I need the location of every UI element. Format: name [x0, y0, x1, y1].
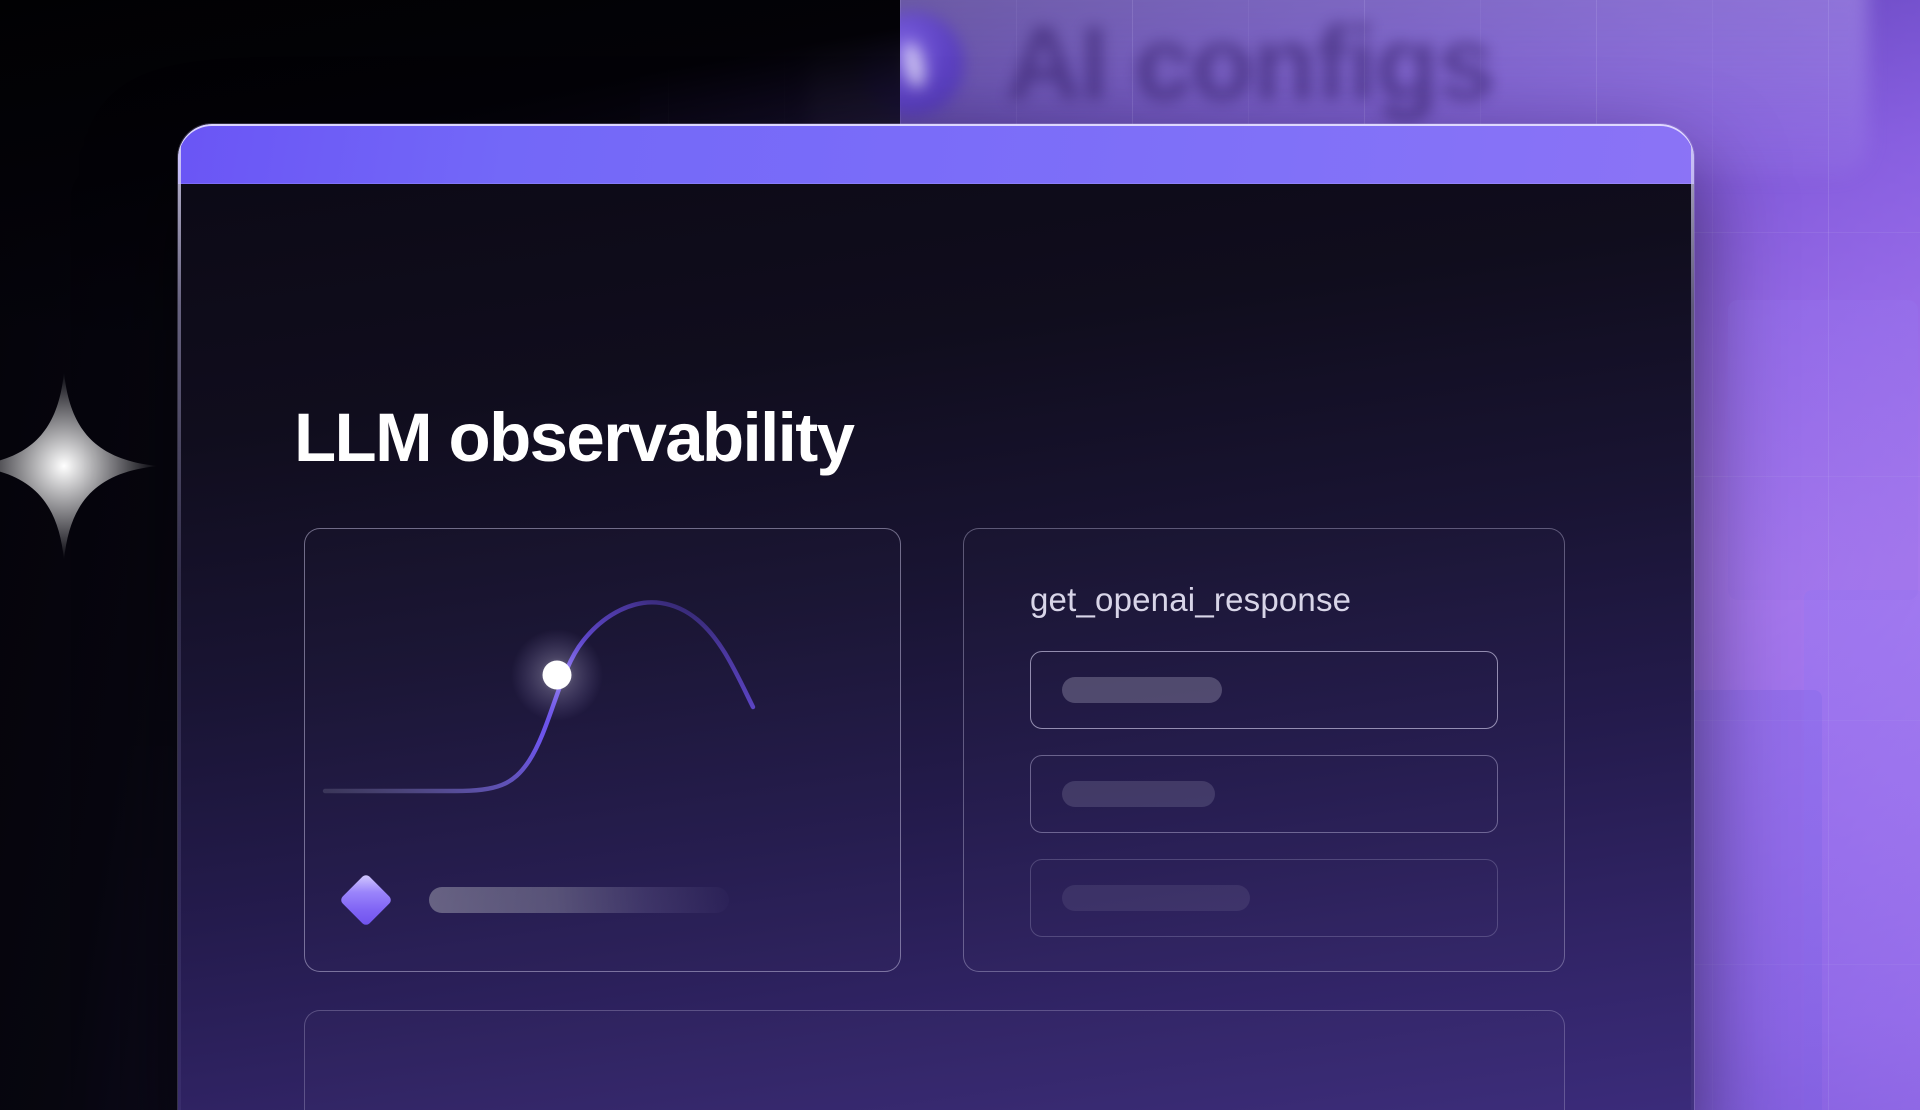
- trace-row-2[interactable]: [1030, 755, 1498, 833]
- trace-row-1[interactable]: [1030, 651, 1498, 729]
- trace-row-list: [1030, 651, 1498, 937]
- trace-function-name: get_openai_response: [1030, 581, 1351, 619]
- ai-configs-label: AI configs: [1006, 12, 1494, 116]
- trace-row-3[interactable]: [1030, 859, 1498, 937]
- chart-legend: [347, 881, 729, 919]
- legend-label-placeholder: [429, 887, 729, 913]
- trace-detail-card[interactable]: get_openai_response: [963, 528, 1565, 972]
- panel-surface: LLM observability: [178, 182, 1694, 1110]
- screenshot-stage: AI configs: [0, 0, 1920, 1110]
- diamond-marker-icon: [339, 873, 393, 927]
- panel-title-bar: [178, 124, 1694, 184]
- app-window-panel: LLM observability: [178, 124, 1694, 1110]
- trace-row-3-skeleton: [1062, 885, 1250, 911]
- page-title: LLM observability: [294, 403, 853, 472]
- trace-row-1-skeleton: [1062, 677, 1222, 703]
- secondary-panel-card[interactable]: [304, 1010, 1565, 1110]
- trace-row-2-skeleton: [1062, 781, 1215, 807]
- latency-chart-card[interactable]: [304, 528, 901, 972]
